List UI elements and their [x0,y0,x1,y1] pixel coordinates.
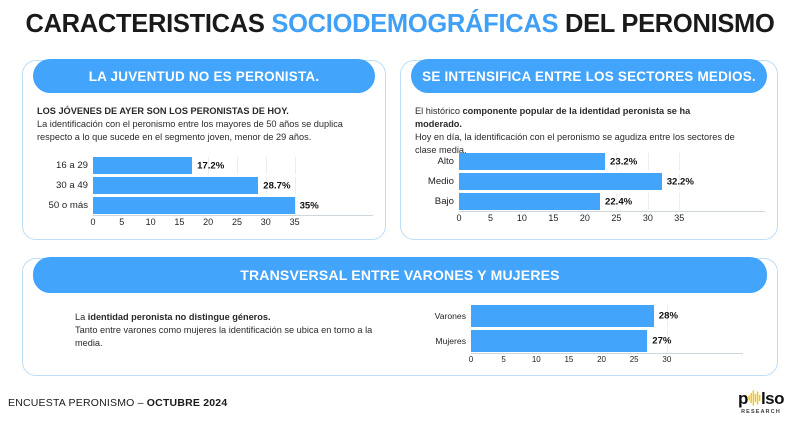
axis-tick-label: 25 [232,217,242,227]
bar-value-label: 28% [654,311,678,322]
x-axis: 05101520253035 [459,211,765,225]
gridline [295,157,296,174]
axis-tick-label: 25 [611,213,621,223]
card-juventud-body: LOS JÓVENES DE AYER SON LOS PERONISTAS D… [23,99,385,239]
axis-tick-label: 25 [630,355,639,364]
bar-value-label: 27% [647,336,671,347]
bar [471,305,654,327]
logo-wordmark: p lso [738,389,784,409]
card-sectores-text: Hoy en día, la identificación con el per… [415,132,735,155]
category-label: Varones [423,311,471,321]
axis-tick-label: 35 [674,213,684,223]
axis-tick-label: 10 [146,217,156,227]
chart-row: Mujeres27% [423,330,743,352]
gridline [679,153,680,170]
axis-tick-label: 20 [597,355,606,364]
gridline [295,177,296,194]
bar-track: 17.2% [93,157,373,174]
bar-track: 27% [471,330,743,352]
axis-tick-label: 30 [643,213,653,223]
gridline [648,193,649,210]
bar-track: 22.4% [459,193,765,210]
chart-row: 50 o más35% [37,197,373,214]
card-juventud-text: La identificación con el peronismo entre… [37,119,343,142]
chart-row: Medio32.2% [413,173,765,190]
bar-track: 28.7% [93,177,373,194]
card-genero-description: La identidad peronista no distingue géne… [75,311,375,350]
chart-juventud: 16 a 2917.2%30 a 4928.7%50 o más35%05101… [37,157,373,235]
card-genero: TRANSVERSAL ENTRE VARONES Y MUJERES La i… [22,258,778,376]
axis-tick-label: 0 [469,355,473,364]
gridline [648,153,649,170]
axis-spacer [37,214,93,229]
title-part-after: DEL PERONISMO [558,10,774,38]
bar-value-label: 28.7% [258,180,290,191]
chart-row: Bajo22.4% [413,193,765,210]
axis-tick-label: 0 [90,217,95,227]
bar-value-label: 32.2% [662,176,694,187]
title-part-before: CARACTERISTICAS [25,10,271,38]
card-sectores-banner: SE INTENSIFICA ENTRE LOS SECTORES MEDIOS… [411,59,767,93]
category-label: 16 a 29 [37,160,93,171]
card-genero-text: Tanto entre varones como mujeres la iden… [75,325,372,348]
chart-gender-axis: 051015202530 [423,352,743,367]
axis-tick-label: 10 [532,355,541,364]
card-sectores-description: El histórico componente popular de la id… [415,105,735,157]
chart-youth-axis: 05101520253035 [37,214,373,229]
axis-tick-label: 10 [517,213,527,223]
axis-tick-label: 5 [488,213,493,223]
category-label: Mujeres [423,336,471,346]
title-part-highlight: SOCIODEMOGRÁFICAS [271,10,558,38]
bar [93,157,192,174]
chart-sectores: Alto23.2%Medio32.2%Bajo22.4%051015202530… [413,153,765,231]
chart-youth-rows: 16 a 2917.2%30 a 4928.7%50 o más35% [37,157,373,214]
bar [93,177,258,194]
chart-sector-rows: Alto23.2%Medio32.2%Bajo22.4% [413,153,765,210]
axis-tick-label: 5 [119,217,124,227]
chart-genero: Varones28%Mujeres27%051015202530 [423,305,743,371]
axis-tick-label: 20 [203,217,213,227]
bar-value-label: 35% [295,200,319,211]
logo-text-post: lso [761,390,784,407]
bar-value-label: 23.2% [605,156,637,167]
axis-tick-label: 15 [174,217,184,227]
bar [471,330,647,352]
card-juventud-description: LOS JÓVENES DE AYER SON LOS PERONISTAS D… [37,105,373,144]
axis-tick-label: 20 [580,213,590,223]
card-juventud-banner: LA JUVENTUD NO ES PERONISTA. [33,59,375,93]
card-genero-lead-bold: identidad peronista no distingue géneros… [88,312,271,322]
chart-row: 16 a 2917.2% [37,157,373,174]
infographic-page: CARACTERISTICAS SOCIODEMOGRÁFICAS DEL PE… [0,0,800,425]
category-label: 50 o más [37,200,93,211]
bar-value-label: 22.4% [600,196,632,207]
category-label: Alto [413,156,459,167]
chart-row: Varones28% [423,305,743,327]
bar-track: 23.2% [459,153,765,170]
gridline [679,193,680,210]
card-sectores-lead-normal: El histórico [415,106,463,116]
bar-track: 28% [471,305,743,327]
bar-value-label: 17.2% [192,160,224,171]
chart-row: 30 a 4928.7% [37,177,373,194]
axis-tick-label: 5 [501,355,505,364]
category-label: Medio [413,176,459,187]
axis-spacer [423,352,471,367]
bar-track: 35% [93,197,373,214]
axis-spacer [413,210,459,225]
bar [459,193,600,210]
pulso-research-logo: p lso RESEARCH [738,389,784,415]
x-axis: 05101520253035 [93,215,373,229]
axis-tick-label: 0 [456,213,461,223]
bar [459,153,605,170]
card-genero-banner: TRANSVERSAL ENTRE VARONES Y MUJERES [33,257,767,293]
chart-gender-rows: Varones28%Mujeres27% [423,305,743,352]
card-sectores: SE INTENSIFICA ENTRE LOS SECTORES MEDIOS… [400,60,778,240]
footer-note-bold: OCTUBRE 2024 [147,397,228,409]
category-label: Bajo [413,196,459,207]
category-label: 30 a 49 [37,180,93,191]
page-title: CARACTERISTICAS SOCIODEMOGRÁFICAS DEL PE… [0,10,800,39]
bar [459,173,662,190]
card-sectores-body: El histórico componente popular de la id… [401,99,777,239]
card-genero-lead-normal: La [75,312,88,322]
bar [93,197,295,214]
axis-tick-label: 30 [261,217,271,227]
axis-tick-label: 15 [564,355,573,364]
gridline [266,157,267,174]
axis-tick-label: 30 [662,355,671,364]
x-axis: 051015202530 [471,353,743,367]
bar-track: 32.2% [459,173,765,190]
waveform-icon [748,389,761,409]
card-juventud-headline: LOS JÓVENES DE AYER SON LOS PERONISTAS D… [37,106,289,116]
axis-tick-label: 15 [548,213,558,223]
card-juventud: LA JUVENTUD NO ES PERONISTA. LOS JÓVENES… [22,60,386,240]
gridline [237,157,238,174]
logo-subtitle: RESEARCH [738,410,784,415]
footer-note-normal: ENCUESTA PERONISMO – [8,397,147,409]
chart-sector-axis: 05101520253035 [413,210,765,225]
axis-tick-label: 35 [290,217,300,227]
logo-text-pre: p [738,390,748,407]
card-genero-body: La identidad peronista no distingue géne… [23,297,777,375]
footer-note: ENCUESTA PERONISMO – OCTUBRE 2024 [8,397,227,409]
chart-row: Alto23.2% [413,153,765,170]
